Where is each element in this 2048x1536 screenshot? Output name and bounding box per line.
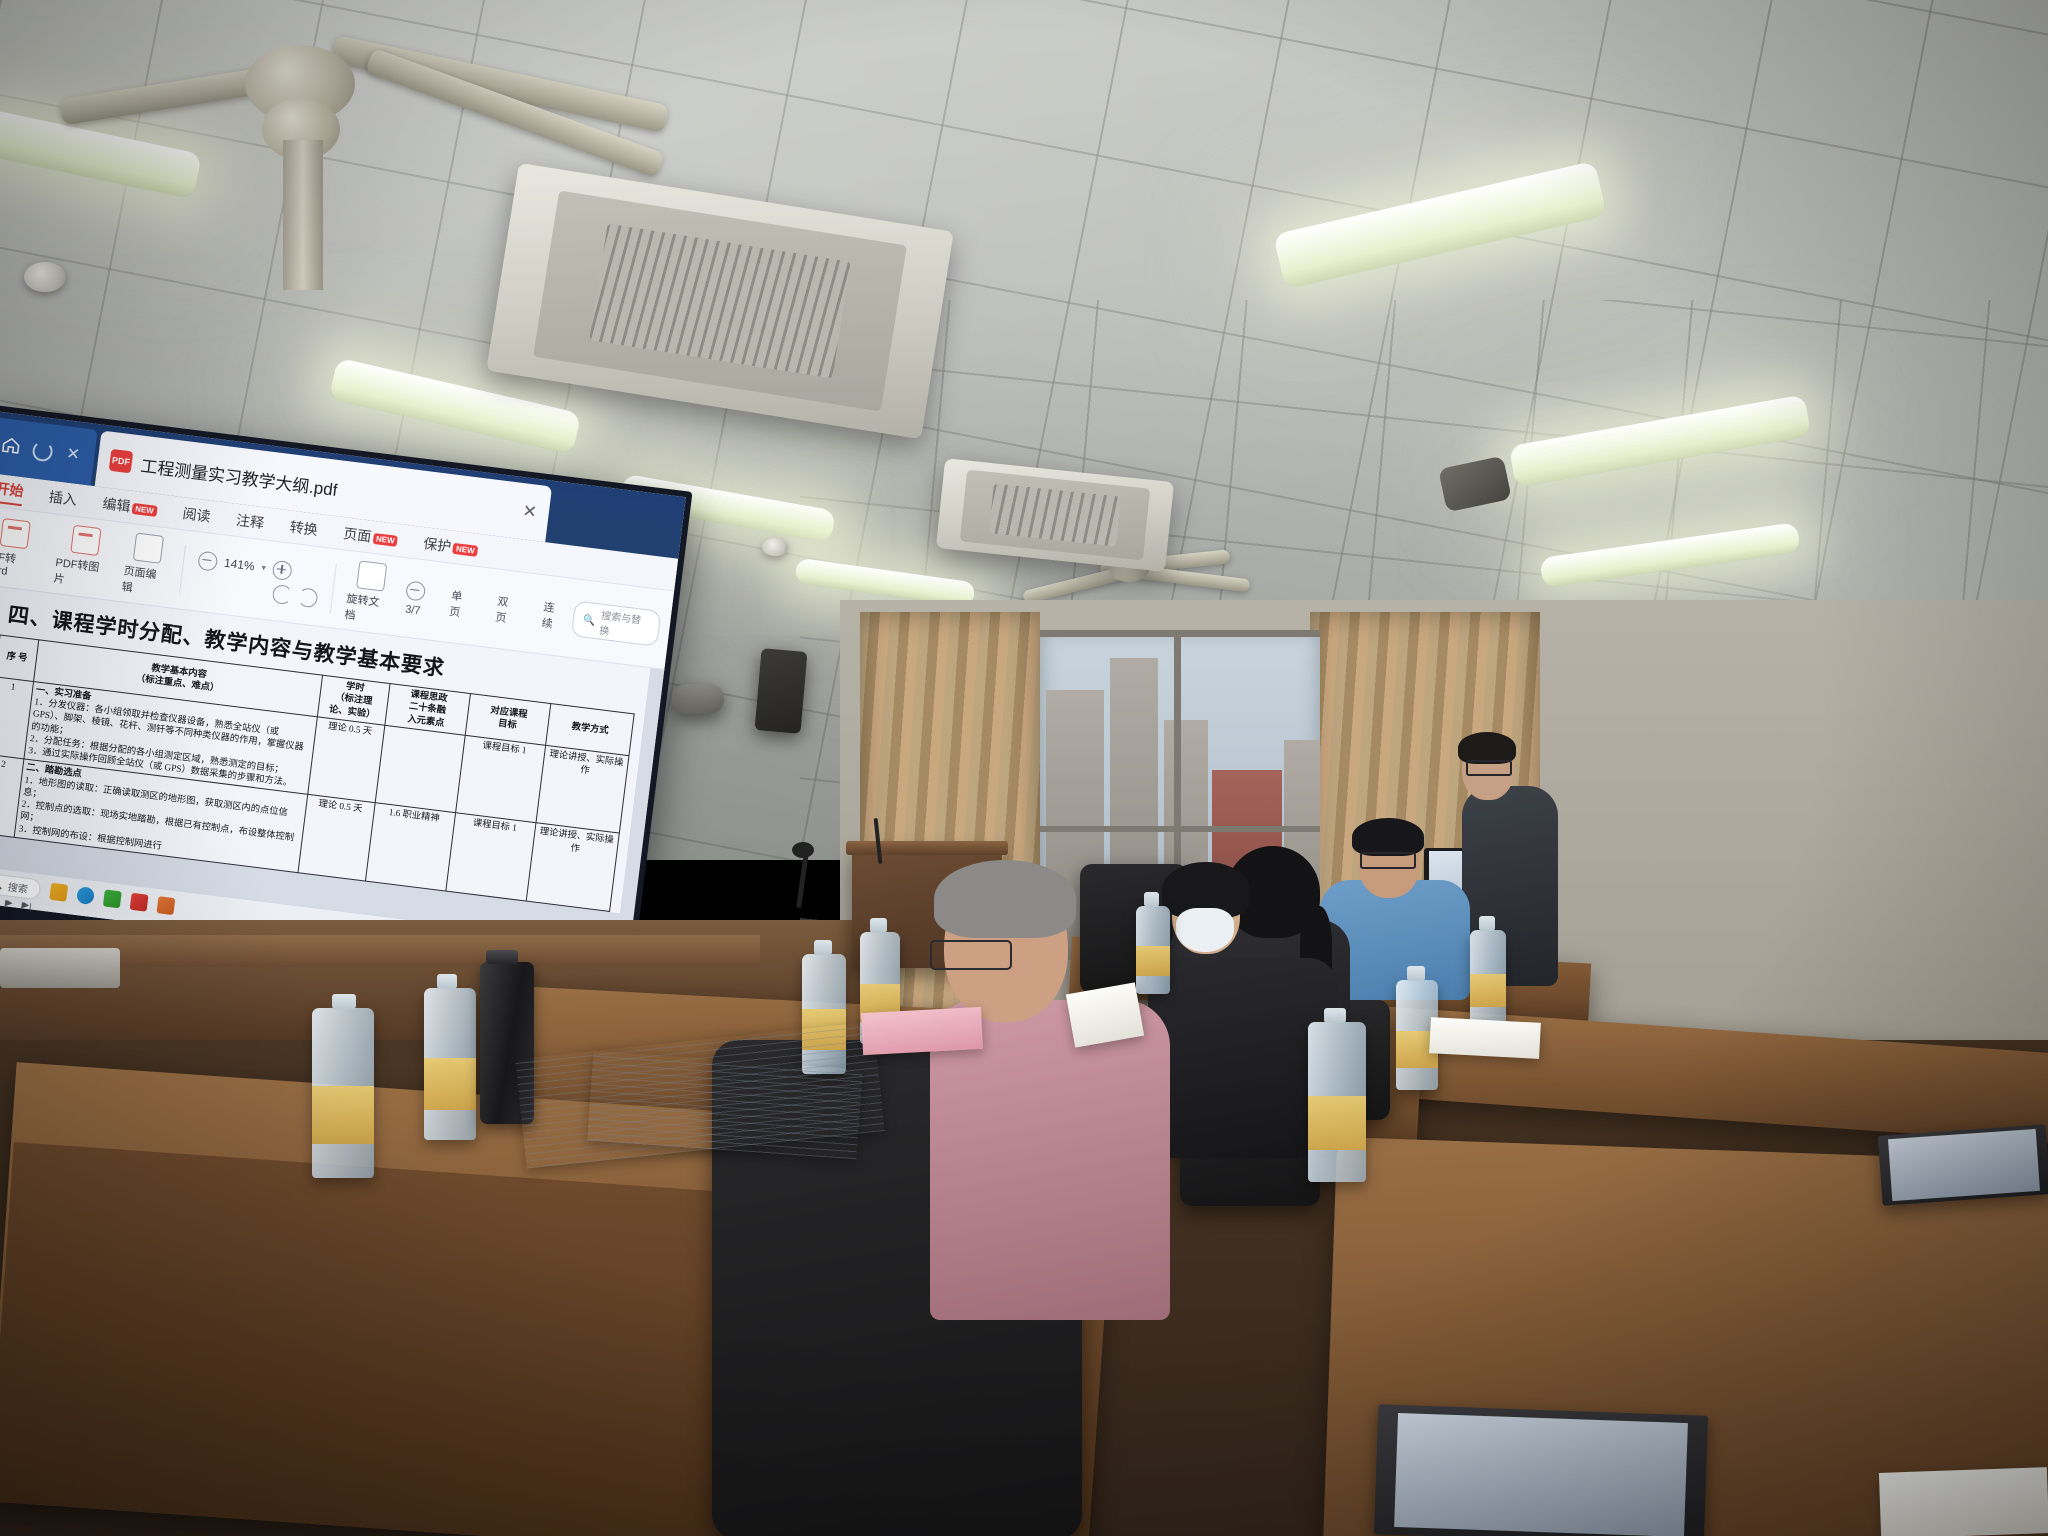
toolbar-divider: [179, 545, 186, 595]
rotate-left-icon[interactable]: [272, 583, 293, 604]
pdf-to-image-button[interactable]: PDF转图片: [53, 523, 115, 592]
search-icon: 🔍: [582, 614, 596, 626]
pdf-to-image-label: PDF转图片: [53, 553, 111, 592]
row2-hours: 理论 0.5 天: [298, 795, 374, 881]
wps-presentation-icon[interactable]: [157, 896, 176, 915]
row1-hours: 理论 0.5 天: [308, 717, 384, 803]
laptop: [1878, 1124, 2048, 1206]
actual-size-icon[interactable]: [246, 580, 267, 601]
open-notebook-2: [587, 1051, 863, 1160]
word-convert-icon: [0, 518, 31, 549]
page-view-group[interactable]: 3/7 单页 双页 连续: [403, 579, 662, 646]
wps-home-tab[interactable]: ✕: [0, 417, 98, 486]
water-bottle: [1136, 906, 1170, 994]
paper-sheet-foreground: [1879, 1467, 2048, 1536]
water-bottle: [1308, 1022, 1366, 1182]
wall-speaker: [755, 648, 808, 734]
close-icon[interactable]: ✕: [65, 443, 81, 465]
double-page-label: 双页: [495, 593, 521, 627]
ribbon-tab-annotate[interactable]: 注释: [235, 510, 265, 533]
row1-ideology: [375, 725, 465, 813]
screenshot-root: ✕ PDF 工程测量实习教学大纲.pdf ✕ 开始 插入 编辑NEW 阅读 注释…: [0, 0, 2048, 1536]
search-placeholder: 搜索与替换: [599, 607, 652, 643]
water-bottle: [1470, 930, 1506, 1026]
single-page-icon[interactable]: [432, 593, 449, 610]
new-badge-page: NEW: [372, 533, 398, 547]
search-replace-box[interactable]: 🔍 搜索与替换: [571, 600, 662, 646]
image-convert-icon: [70, 524, 101, 555]
taskbar-search-box[interactable]: 🔍 搜索: [0, 871, 42, 900]
tab-close-icon[interactable]: ✕: [521, 501, 538, 523]
laptop-foreground: [1374, 1404, 1708, 1536]
taskbar-search-placeholder: 搜索: [7, 878, 29, 895]
fit-width-icon[interactable]: [194, 574, 215, 595]
smoke-detector-2: [762, 538, 788, 556]
rotate-document-icon: [356, 560, 387, 591]
ribbon-tab-edit[interactable]: 编辑NEW: [101, 493, 158, 520]
wechat-icon[interactable]: [103, 889, 122, 908]
home-icon: [0, 434, 22, 456]
ribbon-tab-start[interactable]: 开始: [0, 477, 25, 505]
fit-page-icon[interactable]: [220, 577, 241, 598]
page-edit-label: 页面编辑: [121, 562, 168, 599]
document-filename: 工程测量实习教学大纲.pdf: [139, 451, 339, 500]
th-serial: 序 号: [0, 635, 39, 681]
continuous-page-icon[interactable]: [524, 605, 541, 622]
row2-method: 理论讲授、实际操作: [526, 823, 619, 911]
new-badge-protect: NEW: [452, 543, 478, 557]
rotate-document-button[interactable]: 旋转文档: [344, 559, 395, 627]
glasses: [1466, 760, 1512, 776]
row1-goal: 课程目标 1: [455, 735, 545, 823]
row2-goal: 课程目标 1: [446, 813, 536, 901]
pdf-to-word-label: PDF转Word: [0, 546, 43, 581]
wall-control-panel[interactable]: [0, 948, 120, 988]
paper-sheet-right: [1429, 1017, 1541, 1059]
pdf-to-word-button[interactable]: PDF转Word: [0, 516, 46, 582]
ribbon-tab-convert[interactable]: 转换: [289, 517, 319, 540]
new-badge: NEW: [132, 503, 158, 517]
glasses: [1360, 852, 1416, 869]
face-mask: [1176, 908, 1234, 952]
rotate-document-label: 旋转文档: [344, 590, 391, 627]
ribbon-tab-read[interactable]: 阅读: [181, 503, 211, 526]
screen-mount: [672, 684, 724, 714]
smoke-detector: [24, 262, 66, 292]
glasses: [930, 940, 1012, 970]
single-page-label: 单页: [448, 587, 474, 621]
prev-page-icon[interactable]: [405, 580, 426, 601]
toolbar-divider-2: [330, 563, 337, 613]
page-edit-button[interactable]: 页面编辑: [121, 531, 172, 599]
double-page-icon[interactable]: [478, 599, 495, 616]
zoom-in-icon[interactable]: [272, 559, 293, 580]
microphone-head: [792, 842, 814, 858]
refresh-icon[interactable]: [31, 440, 53, 462]
ribbon-tab-page[interactable]: 页面NEW: [342, 523, 399, 550]
ribbon-tab-protect[interactable]: 保护NEW: [422, 533, 479, 560]
page-indicator: 3/7: [405, 603, 422, 617]
file-explorer-icon[interactable]: [50, 882, 69, 901]
row2-ideology: 1.6 职业精神: [365, 803, 455, 891]
row1-method: 理论讲授、实际操作: [536, 745, 629, 833]
pdf-badge-icon: PDF: [109, 449, 134, 474]
ribbon-tab-insert[interactable]: 插入: [48, 487, 78, 510]
rotate-right-icon[interactable]: [297, 587, 318, 608]
zoom-out-icon[interactable]: [197, 550, 218, 571]
pink-book: [861, 1007, 983, 1055]
continuous-page-label: 连续: [541, 599, 567, 633]
wps-writer-icon[interactable]: [130, 892, 149, 911]
water-bottle: [312, 1008, 374, 1178]
zoom-caret-icon[interactable]: ▾: [261, 562, 267, 573]
display-screen[interactable]: ✕ PDF 工程测量实习教学大纲.pdf ✕ 开始 插入 编辑NEW 阅读 注释…: [0, 411, 686, 984]
edge-browser-icon[interactable]: [77, 886, 96, 905]
zoom-level: 141%: [223, 556, 255, 574]
water-bottle: [424, 988, 476, 1140]
page-edit-icon: [133, 532, 164, 563]
search-icon: 🔍: [0, 878, 4, 890]
